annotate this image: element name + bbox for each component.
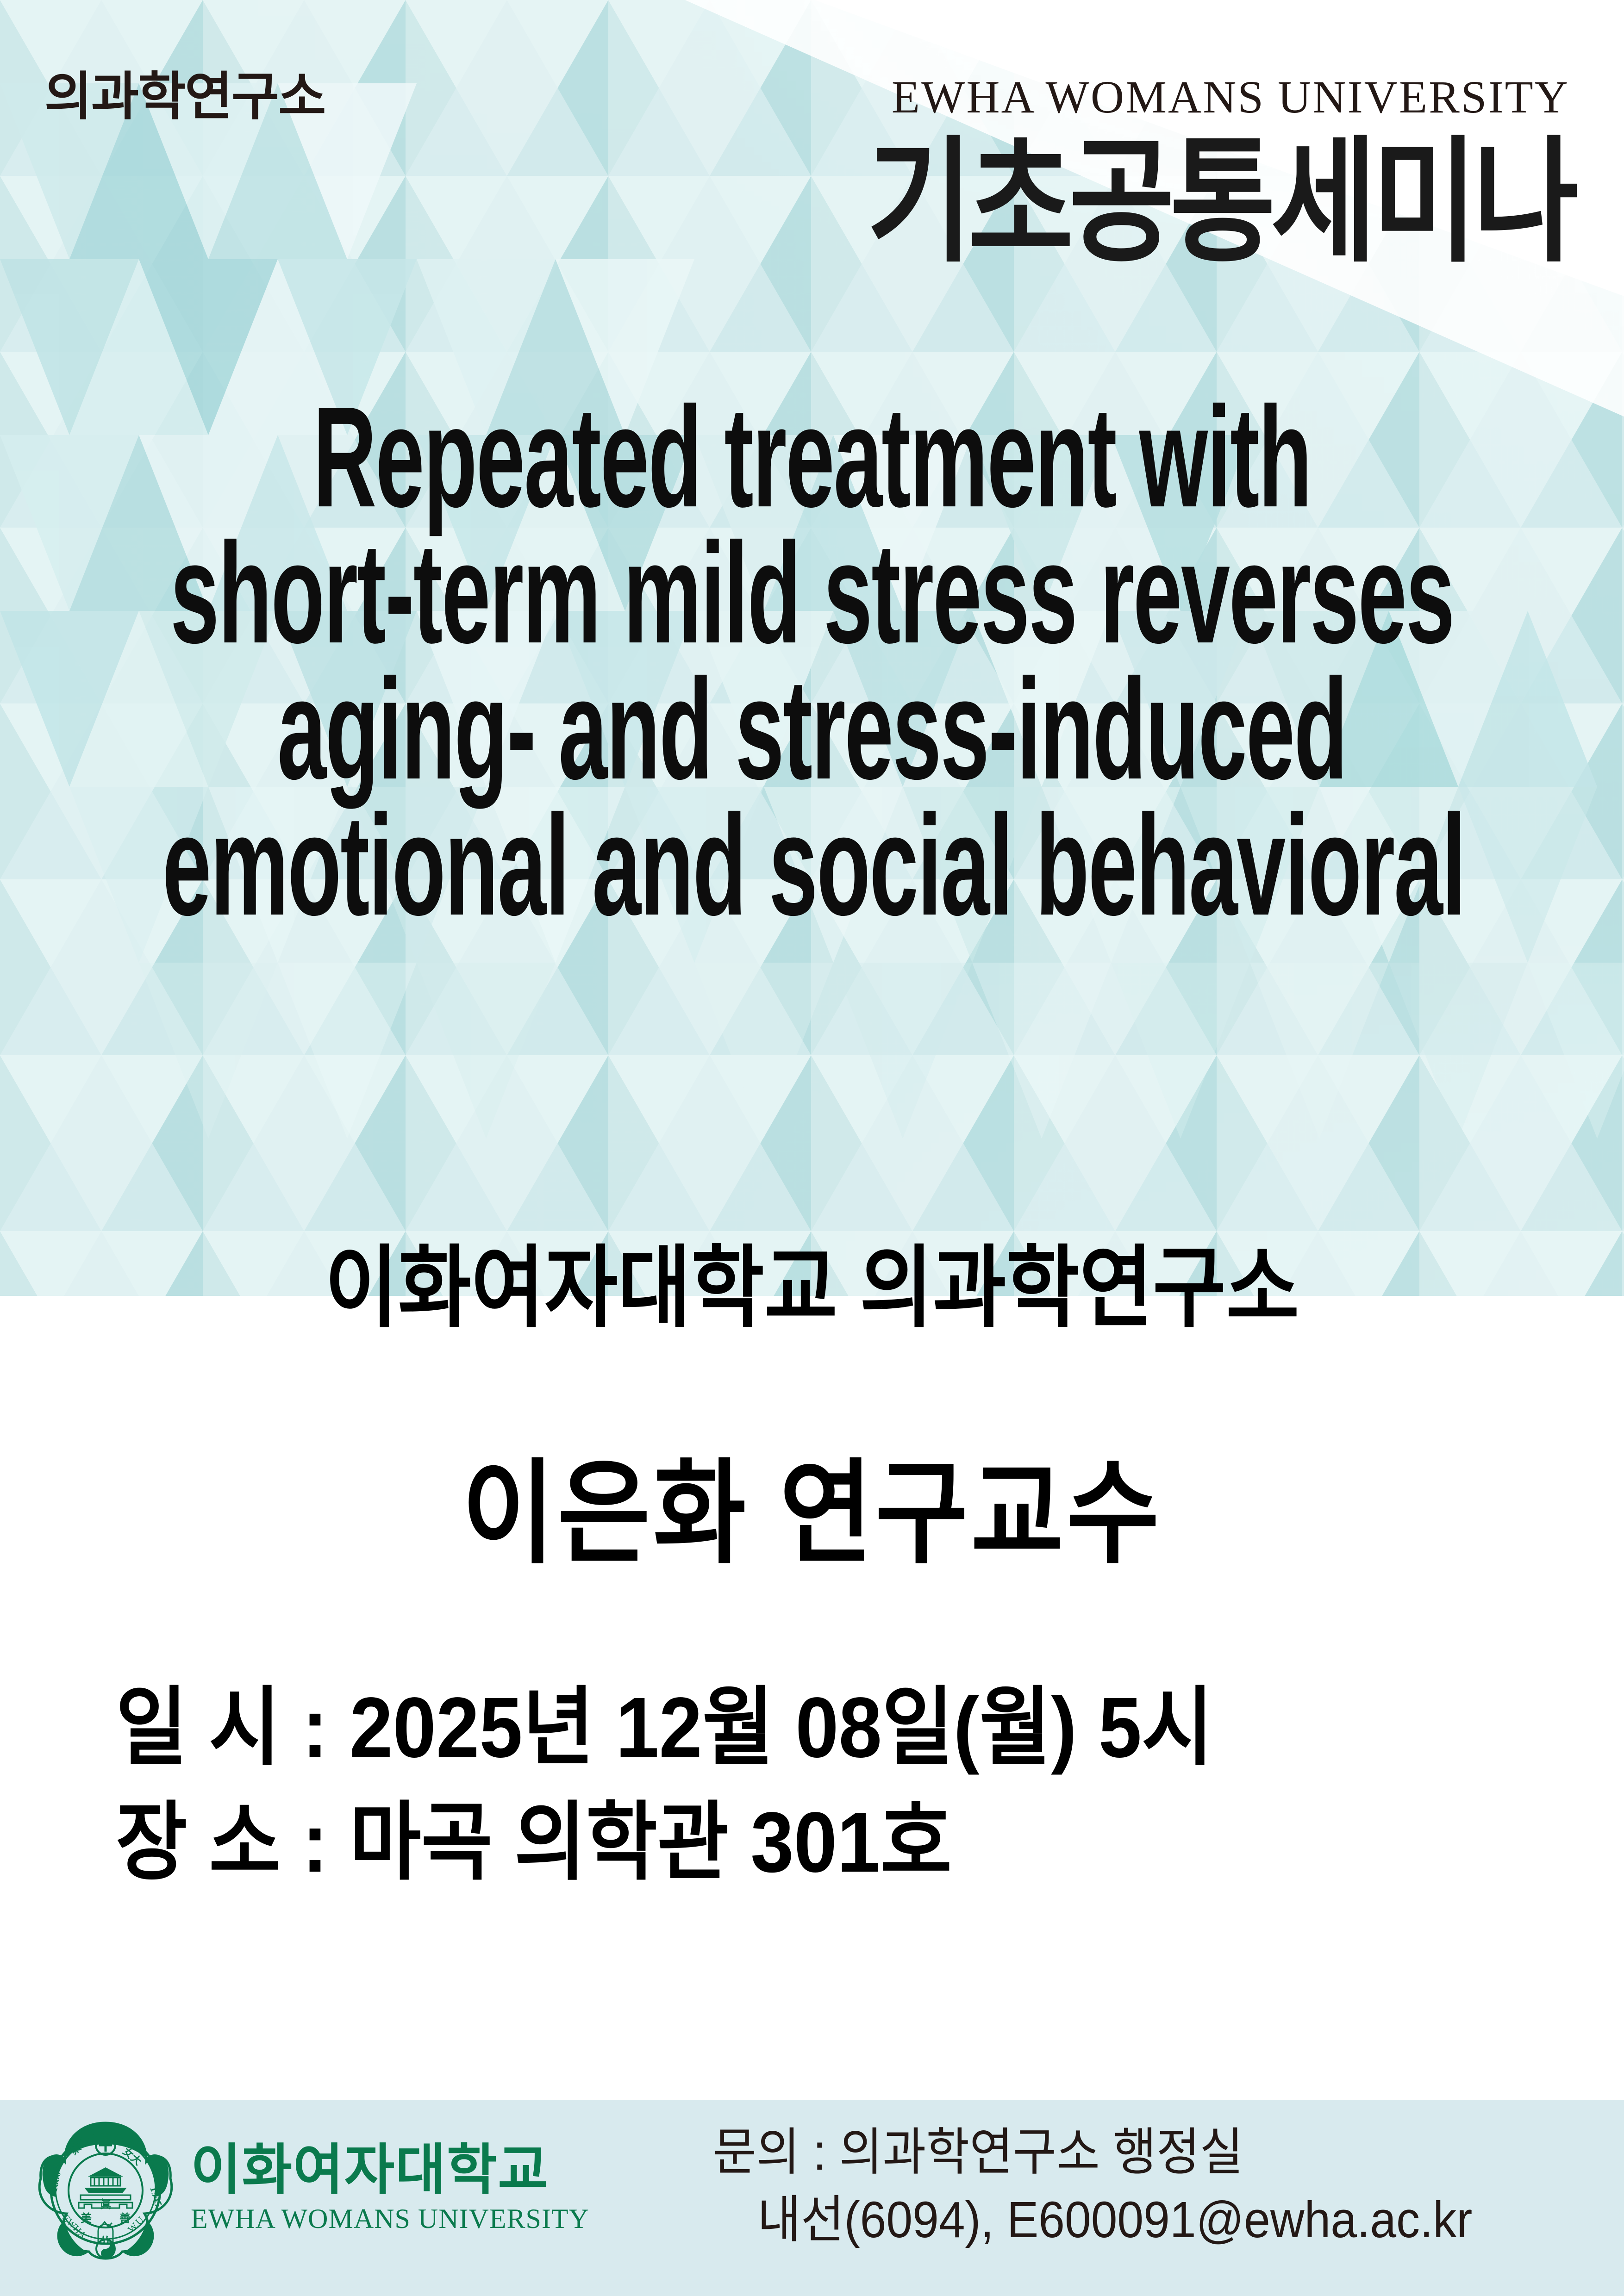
contact-phone-email[interactable]: 내선(6094), E600091@ewha.ac.kr xyxy=(713,2194,1472,2267)
speaker-affiliation: 이화여자대학교 의과학연구소 xyxy=(0,1215,1624,1344)
logo-wordmark: 이화여자대학교 EWHA WOMANS UNIVERSITY xyxy=(191,2143,589,2235)
svg-text:眞: 眞 xyxy=(100,2198,111,2211)
poster-footer: 梨花 女大 1886 1945 EWHA W.U. xyxy=(0,2100,1624,2296)
triangle-pattern-background xyxy=(0,0,1624,2296)
speaker-name: 이은화 연구교수 xyxy=(0,1421,1624,1585)
svg-text:善: 善 xyxy=(119,2212,131,2225)
seminar-poster: 의과학연구소 EWHA WOMANS UNIVERSITY 기초공통세미나 Re… xyxy=(0,0,1624,2296)
event-details: 일 시 : 2025년 12월 08일(월) 5시 장 소 : 마곡 의학관 3… xyxy=(116,1685,1213,1914)
event-datetime: 일 시 : 2025년 12월 08일(월) 5시 xyxy=(116,1685,1213,1811)
event-location: 장 소 : 마곡 의학관 301호 xyxy=(116,1799,1213,1926)
logo-korean-name: 이화여자대학교 xyxy=(191,2143,549,2197)
presentation-title: Repeated treatment with short-term mild … xyxy=(0,398,1624,942)
title-line-4: emotional and social behavioral xyxy=(162,786,1462,963)
contact-info: 문의 : 의과학연구소 행정실 내선(6094), E600091@ewha.a… xyxy=(713,2127,1472,2262)
university-logo: 梨花 女大 1886 1945 EWHA W.U. xyxy=(36,2117,589,2261)
ewha-seal-icon: 梨花 女大 1886 1945 EWHA W.U. xyxy=(36,2117,175,2261)
contact-office: 문의 : 의과학연구소 행정실 xyxy=(713,2127,1472,2200)
university-name-header: EWHA WOMANS UNIVERSITY xyxy=(0,70,1569,124)
svg-text:美: 美 xyxy=(81,2212,92,2225)
seminar-series-title: 기초공통세미나 xyxy=(0,134,1574,270)
logo-english-name: EWHA WOMANS UNIVERSITY xyxy=(191,2202,589,2235)
